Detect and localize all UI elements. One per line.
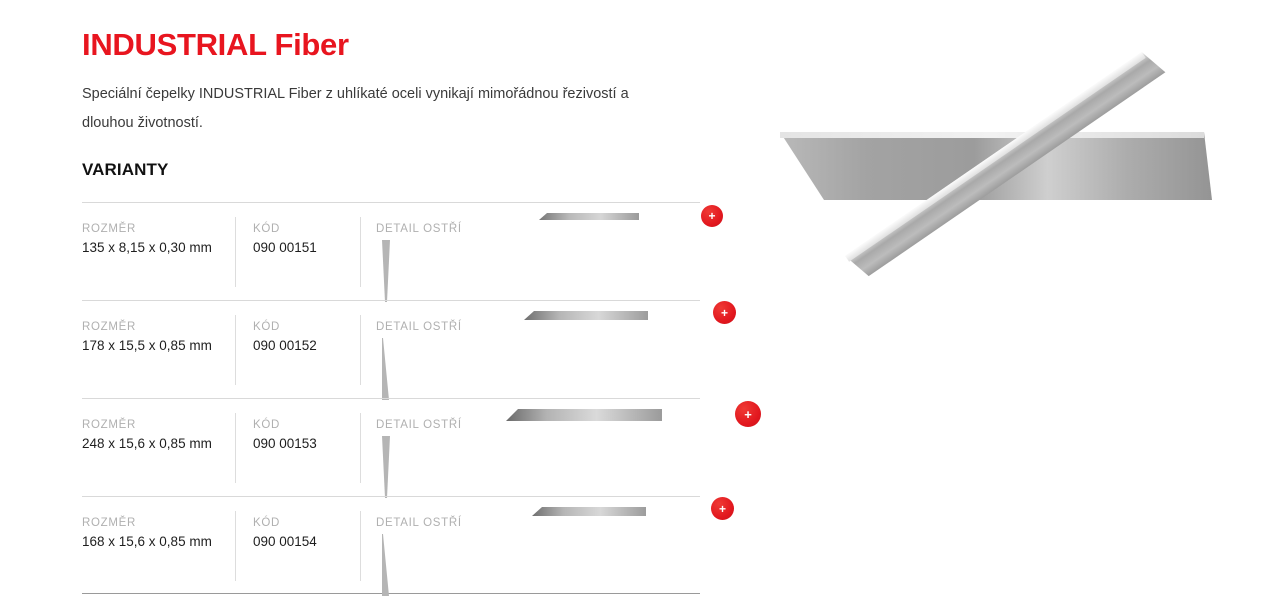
cell-label-code: KÓD: [253, 515, 317, 531]
cell-size: ROZMĚR 135 x 8,15 x 0,30 mm: [82, 221, 212, 259]
expand-detail-button[interactable]: +: [735, 401, 761, 427]
blade-strip-icon: [539, 213, 639, 223]
edge-profile-icon: [375, 436, 397, 498]
cell-value-code: 090 00154: [253, 531, 317, 553]
cell-value-size: 168 x 15,6 x 0,85 mm: [82, 531, 212, 553]
cell-label-size: ROZMĚR: [82, 319, 212, 335]
cell-edge-detail: DETAIL OSTŘÍ: [376, 221, 462, 237]
expand-detail-button[interactable]: +: [711, 497, 734, 520]
cell-code: KÓD 090 00154: [253, 515, 317, 553]
cell-label-size: ROZMĚR: [82, 515, 212, 531]
table-row[interactable]: ROZMĚR 135 x 8,15 x 0,30 mm KÓD 090 0015…: [82, 202, 700, 300]
product-hero-image: [752, 10, 1252, 330]
cell-value-size: 178 x 15,5 x 0,85 mm: [82, 335, 212, 357]
blade-strip-icon: [506, 409, 662, 424]
cell-label-size: ROZMĚR: [82, 417, 212, 433]
product-info-pane: INDUSTRIAL Fiber Speciální čepelky INDUS…: [82, 0, 702, 594]
cell-size: ROZMĚR 248 x 15,6 x 0,85 mm: [82, 417, 212, 455]
cell-label-edge: DETAIL OSTŘÍ: [376, 417, 462, 433]
cell-label-code: KÓD: [253, 319, 317, 335]
blade-thumbnail: [532, 507, 646, 521]
cell-size: ROZMĚR 178 x 15,5 x 0,85 mm: [82, 319, 212, 357]
plus-icon: +: [721, 307, 728, 319]
cell-code: KÓD 090 00153: [253, 417, 317, 455]
cell-value-code: 090 00152: [253, 335, 317, 357]
cell-label-size: ROZMĚR: [82, 221, 212, 237]
cell-code: KÓD 090 00151: [253, 221, 317, 259]
cell-edge-detail: DETAIL OSTŘÍ: [376, 417, 462, 433]
column-divider: [235, 511, 236, 581]
expand-detail-button[interactable]: +: [713, 301, 736, 324]
edge-profile-icon: [375, 534, 397, 596]
cell-label-edge: DETAIL OSTŘÍ: [376, 221, 462, 237]
expand-detail-button[interactable]: +: [701, 205, 723, 227]
table-row[interactable]: ROZMĚR 168 x 15,6 x 0,85 mm KÓD 090 0015…: [82, 496, 700, 594]
table-row[interactable]: ROZMĚR 248 x 15,6 x 0,85 mm KÓD 090 0015…: [82, 398, 700, 496]
product-description: Speciální čepelky INDUSTRIAL Fiber z uhl…: [82, 63, 682, 138]
edge-profile-icon: [375, 338, 397, 400]
variants-heading: VARIANTY: [82, 138, 702, 180]
blade-strip-icon: [532, 507, 646, 519]
variants-table: ROZMĚR 135 x 8,15 x 0,30 mm KÓD 090 0015…: [82, 202, 700, 594]
table-row[interactable]: ROZMĚR 178 x 15,5 x 0,85 mm KÓD 090 0015…: [82, 300, 700, 398]
column-divider: [235, 315, 236, 385]
column-divider: [235, 413, 236, 483]
cell-label-edge: DETAIL OSTŘÍ: [376, 319, 462, 335]
cell-edge-detail: DETAIL OSTŘÍ: [376, 515, 462, 531]
column-divider: [360, 511, 361, 581]
cell-edge-detail: DETAIL OSTŘÍ: [376, 319, 462, 335]
blade-thumbnail: [506, 409, 662, 425]
blade-thumbnail: [539, 213, 639, 227]
cell-label-edge: DETAIL OSTŘÍ: [376, 515, 462, 531]
plus-icon: +: [744, 408, 752, 421]
page-title: INDUSTRIAL Fiber: [82, 0, 702, 63]
cell-value-code: 090 00151: [253, 237, 317, 259]
column-divider: [360, 413, 361, 483]
cell-label-code: KÓD: [253, 417, 317, 433]
blade-thumbnail: [524, 311, 648, 325]
cell-value-size: 135 x 8,15 x 0,30 mm: [82, 237, 212, 259]
blade-strip-icon: [524, 311, 648, 323]
column-divider: [360, 315, 361, 385]
cell-size: ROZMĚR 168 x 15,6 x 0,85 mm: [82, 515, 212, 553]
plus-icon: +: [719, 503, 726, 515]
edge-profile-icon: [375, 240, 397, 302]
cell-code: KÓD 090 00152: [253, 319, 317, 357]
column-divider: [360, 217, 361, 287]
cell-label-code: KÓD: [253, 221, 317, 237]
cell-value-size: 248 x 15,6 x 0,85 mm: [82, 433, 212, 455]
plus-icon: +: [708, 210, 715, 222]
cell-value-code: 090 00153: [253, 433, 317, 455]
column-divider: [235, 217, 236, 287]
